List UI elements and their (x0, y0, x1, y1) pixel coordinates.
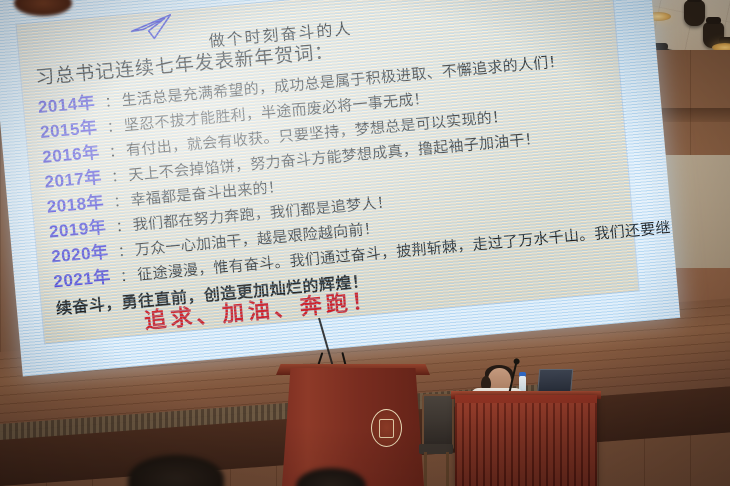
colon: ： (105, 140, 127, 162)
colon: ： (101, 91, 123, 113)
draped-table (455, 395, 597, 486)
led-screen: 做个时刻奋斗的人 习总书记连续七年发表新年贺词： 2014年 ： 生活总是充满希… (0, 0, 680, 376)
slide-year-list: 2014年 ： 生活总是充满希望的，成功总是属于积极进取、不懈追求的人们！ 20… (37, 42, 635, 320)
chair-leg (424, 452, 427, 486)
colon: ： (108, 165, 130, 187)
year-label: 2021年 (52, 262, 118, 293)
colon: ： (103, 116, 125, 138)
table-skirt (455, 403, 597, 486)
colon: ： (112, 215, 134, 237)
colon: ： (114, 240, 136, 262)
chair-leg (446, 452, 449, 486)
presentation-photo: 做个时刻奋斗的人 习总书记连续七年发表新年贺词： 2014年 ： 生活总是充满希… (0, 0, 730, 486)
university-emblem-icon (371, 409, 402, 447)
podium (282, 368, 424, 486)
chair (419, 394, 453, 486)
spotlight-icon (684, 0, 705, 26)
paper-plane-icon (128, 13, 175, 48)
chair-back (422, 394, 454, 450)
colon: ： (116, 265, 138, 287)
colon: ： (110, 190, 132, 212)
